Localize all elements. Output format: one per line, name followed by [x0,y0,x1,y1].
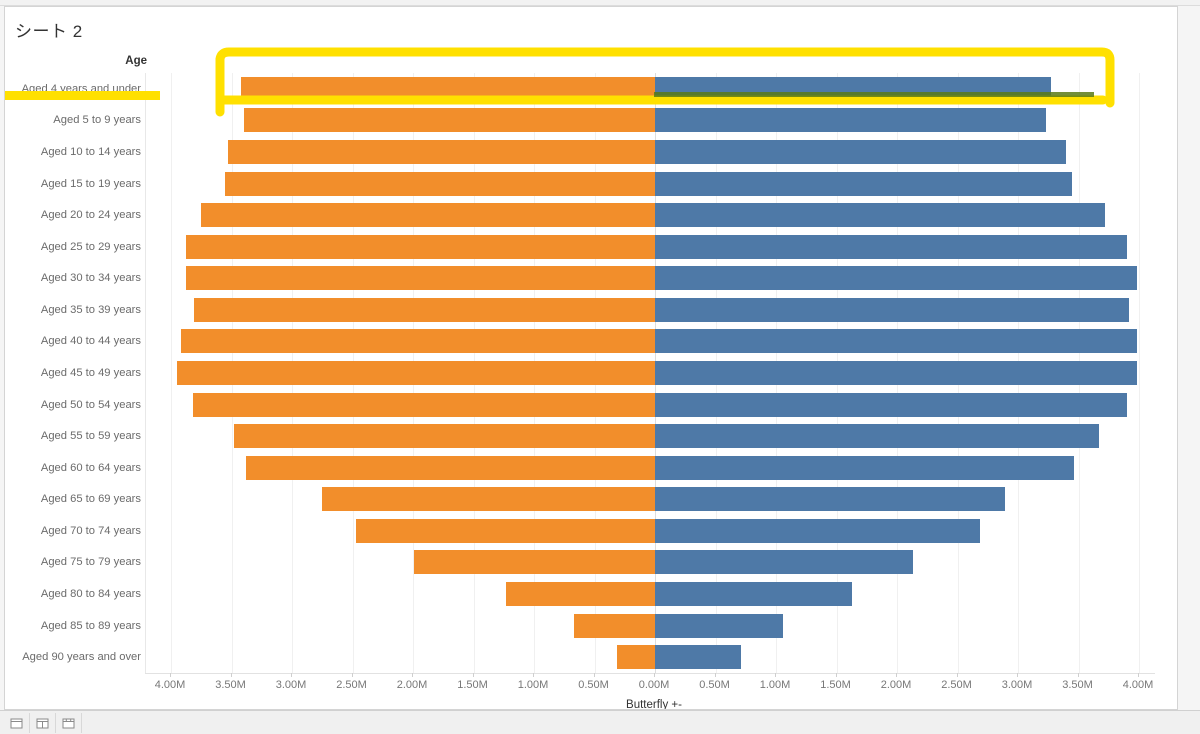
category-label[interactable]: Aged 5 to 9 years [53,113,141,127]
x-axis-title[interactable]: Butterfly +- [626,699,682,710]
bar-segment-left[interactable] [177,361,655,385]
category-label[interactable]: Aged 55 to 59 years [41,429,141,443]
x-tick-label: 2.50M [941,679,972,691]
bar-row[interactable] [146,108,1156,132]
x-tick-label: 2.00M [881,679,912,691]
bar-segment-right[interactable] [655,266,1137,290]
right-gutter [1178,6,1200,710]
bar-segment-right[interactable] [655,140,1066,164]
bar-segment-left[interactable] [617,645,655,669]
category-label[interactable]: Aged 35 to 39 years [41,303,141,317]
bar-segment-left[interactable] [193,393,655,417]
bar-segment-right[interactable] [655,614,783,638]
category-label[interactable]: Aged 75 to 79 years [41,555,141,569]
category-label[interactable]: Aged 15 to 19 years [41,177,141,191]
category-label[interactable]: Aged 85 to 89 years [41,619,141,633]
new-story-button[interactable] [56,713,82,733]
bar-segment-left[interactable] [228,140,655,164]
x-tick [1138,673,1139,677]
bar-segment-right[interactable] [655,393,1127,417]
category-label[interactable]: Aged 45 to 49 years [41,366,141,380]
x-tick [412,673,413,677]
bar-row[interactable] [146,235,1156,259]
category-label[interactable]: Aged 60 to 64 years [41,461,141,475]
bar-segment-right[interactable] [655,582,852,606]
bar-segment-left[interactable] [241,77,655,101]
bar-row[interactable] [146,393,1156,417]
bar-row[interactable] [146,519,1156,543]
bar-segment-left[interactable] [574,614,655,638]
x-tick [775,673,776,677]
bar-row[interactable] [146,298,1156,322]
bar-row[interactable] [146,203,1156,227]
x-tick-label: 2.00M [397,679,428,691]
bar-row[interactable] [146,361,1156,385]
x-tick [533,673,534,677]
bar-segment-left[interactable] [186,235,655,259]
x-tick-label: 4.00M [155,679,186,691]
x-tick [473,673,474,677]
x-tick [896,673,897,677]
bar-segment-right[interactable] [655,329,1137,353]
new-dashboard-icon [36,718,49,729]
x-tick-label: 1.00M [518,679,549,691]
x-tick [715,673,716,677]
bar-segment-right[interactable] [655,361,1137,385]
x-tick-label: 1.50M [457,679,488,691]
category-axis-labels: Aged 4 years and underAged 5 to 9 yearsA… [5,73,147,673]
x-tick [352,673,353,677]
worksheet-pane: シート 2 Age Aged 4 years and underAged 5 t… [4,6,1178,710]
butterfly-chart: Age Aged 4 years and underAged 5 to 9 ye… [5,47,1178,707]
x-axis: 4.00M3.50M3.00M2.50M2.00M1.50M1.00M0.50M… [145,673,1155,710]
x-tick-label: 0.00M [639,679,670,691]
category-label[interactable]: Aged 4 years and under [22,82,141,96]
x-tick [654,673,655,677]
bar-segment-right[interactable] [655,298,1129,322]
x-tick-label: 1.00M [760,679,791,691]
x-tick [291,673,292,677]
bar-segment-right[interactable] [655,550,913,574]
bar-segment-right[interactable] [655,424,1099,448]
x-tick [231,673,232,677]
x-tick-label: 1.50M [820,679,851,691]
bar-segment-left[interactable] [506,582,655,606]
bar-row[interactable] [146,456,1156,480]
bar-row[interactable] [146,140,1156,164]
x-tick [170,673,171,677]
category-label[interactable]: Aged 25 to 29 years [41,240,141,254]
x-tick-label: 4.00M [1123,679,1154,691]
bar-segment-right[interactable] [655,77,1051,101]
bar-segment-right[interactable] [655,519,980,543]
new-worksheet-icon [10,718,23,729]
x-tick-label: 0.50M [699,679,730,691]
x-tick-label: 3.50M [1062,679,1093,691]
plot-area [145,73,1155,673]
bar-segment-right[interactable] [655,203,1105,227]
axis-field-header: Age [5,55,147,67]
bar-row[interactable] [146,614,1156,638]
tableau-window: シート 2 Age Aged 4 years and underAged 5 t… [0,0,1200,734]
bar-segment-right[interactable] [655,108,1046,132]
x-tick-label: 2.50M [336,679,367,691]
new-story-icon [62,718,75,729]
bar-segment-right[interactable] [655,645,741,669]
x-tick [957,673,958,677]
x-tick [594,673,595,677]
x-tick-label: 3.00M [276,679,307,691]
bar-segment-left[interactable] [414,550,655,574]
x-tick [1017,673,1018,677]
bar-segment-right[interactable] [655,487,1005,511]
bar-segment-left[interactable] [225,172,655,196]
x-tick-label: 3.00M [1002,679,1033,691]
bar-segment-left[interactable] [186,266,655,290]
sheet-title: シート 2 [15,17,83,42]
bar-row[interactable] [146,487,1156,511]
bar-segment-left[interactable] [246,456,655,480]
bar-row[interactable] [146,424,1156,448]
x-axis-line [145,673,1155,674]
bar-row[interactable] [146,329,1156,353]
category-label[interactable]: Aged 65 to 69 years [41,492,141,506]
category-label[interactable]: Aged 70 to 74 years [41,524,141,538]
category-label[interactable]: Aged 90 years and over [22,650,141,664]
category-label[interactable]: Aged 50 to 54 years [41,398,141,412]
bar-segment-right[interactable] [655,172,1072,196]
bar-segment-left[interactable] [322,487,655,511]
bar-row[interactable] [146,77,1156,101]
bar-segment-left[interactable] [234,424,655,448]
bar-row[interactable] [146,266,1156,290]
x-tick [1078,673,1079,677]
bar-segment-right[interactable] [655,456,1074,480]
bar-segment-left[interactable] [244,108,655,132]
bar-row[interactable] [146,582,1156,606]
new-worksheet-button[interactable] [4,713,30,733]
bar-segment-left[interactable] [356,519,655,543]
bar-segment-left[interactable] [181,329,655,353]
bar-row[interactable] [146,172,1156,196]
category-label[interactable]: Aged 10 to 14 years [41,145,141,159]
sheet-tab-bar [0,710,1200,734]
bar-row[interactable] [146,550,1156,574]
category-label[interactable]: Aged 80 to 84 years [41,587,141,601]
bar-row[interactable] [146,645,1156,669]
x-tick [836,673,837,677]
x-tick-label: 0.50M [578,679,609,691]
bar-segment-left[interactable] [201,203,655,227]
x-tick-label: 3.50M [215,679,246,691]
category-label[interactable]: Aged 30 to 34 years [41,271,141,285]
bar-segment-right[interactable] [655,235,1127,259]
new-dashboard-button[interactable] [30,713,56,733]
bar-segment-left[interactable] [194,298,655,322]
category-label[interactable]: Aged 40 to 44 years [41,334,141,348]
category-label[interactable]: Aged 20 to 24 years [41,208,141,222]
